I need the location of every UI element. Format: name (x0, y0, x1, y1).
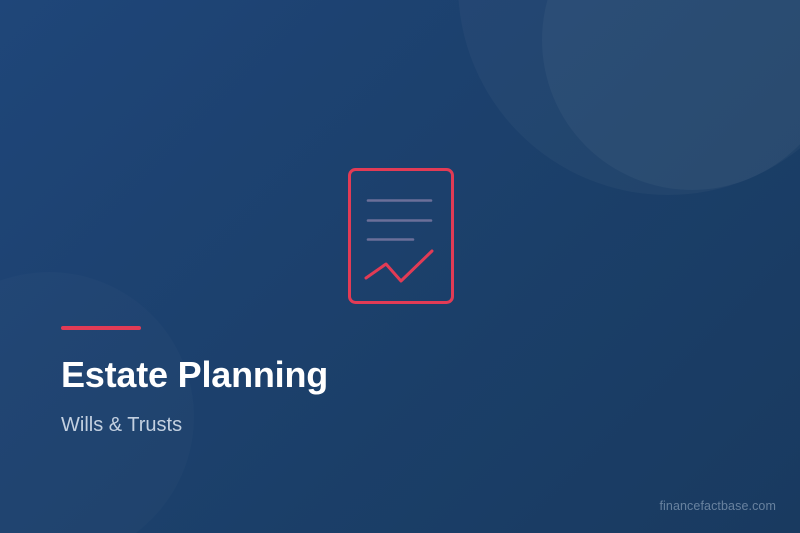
page-subtitle: Wills & Trusts (61, 412, 581, 438)
slide-canvas: Estate Planning Wills & Trusts financefa… (0, 0, 800, 533)
watermark-url: financefactbase.com (659, 499, 776, 513)
accent-bar (61, 326, 141, 330)
top-right-small-circle (542, 0, 800, 190)
top-right-large-circle (458, 0, 800, 195)
text-content-block: Estate Planning Wills & Trusts (61, 326, 581, 438)
page-title: Estate Planning (61, 354, 581, 396)
document-chart-icon (343, 163, 459, 309)
